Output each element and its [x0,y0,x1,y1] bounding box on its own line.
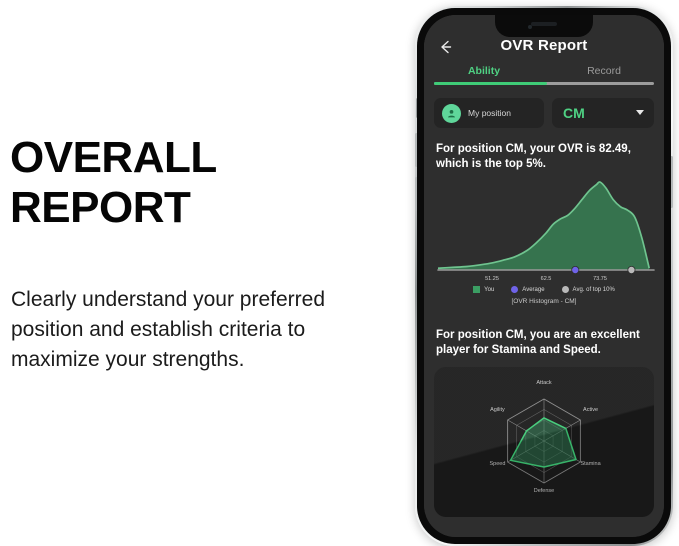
app-ovr-report: OVR Report Ability Record [424,15,664,537]
headline-line-2: REPORT [10,183,400,233]
ovr-statement-line-1: For position CM, your OVR is 82.49, [436,142,652,157]
marketing-body: Clearly understand your preferred positi… [11,285,396,375]
phone-frame: OVR Report Ability Record [415,6,673,546]
ovr-histogram-chart: 51.2562.573.75 YouAverageAvg. of top 10%… [432,176,656,302]
ovr-statement-line-2: which is the top 5%. [436,157,652,172]
radar-axis-label: Defense [534,488,555,494]
radar-axis-label: Speed [489,461,505,467]
tab-active-indicator [434,82,547,85]
legend-label: You [484,287,494,293]
page-title: OVERALL REPORT [10,133,400,233]
histogram-caption: [OVR Histogram - CM] [432,298,656,305]
navbar-title: OVR Report [424,37,664,54]
body-line-1: Clearly understand your preferred [11,285,396,315]
position-select[interactable]: CM [552,98,654,128]
strength-statement-line-1: For position CM, you are an excellent [436,328,652,343]
histogram-tick-label: 51.25 [485,276,499,282]
legend-item: Average [511,286,544,293]
phone-mockup: OVR Report Ability Record [411,2,679,542]
radar-axis-label: Active [583,407,598,413]
strength-statement: For position CM, you are an excellent pl… [436,328,652,358]
tab-ability[interactable]: Ability [424,65,544,77]
legend-swatch [562,286,569,293]
histogram-tick-label: 62.5 [541,276,552,282]
radar-axis-label: Stamina [580,461,600,467]
earpiece-speaker [531,22,557,26]
histogram-x-axis-ticks: 51.2562.573.75 [432,276,656,286]
body-line-3: maximize your strengths. [11,345,396,375]
headline-line-1: OVERALL [10,133,217,182]
my-position-label: My position [468,108,511,118]
radar-axis-label: Agility [490,407,505,413]
legend-label: Avg. of top 10% [573,287,615,293]
radar-axis-label: Attack [536,380,551,386]
tab-record[interactable]: Record [544,65,664,77]
legend-label: Average [522,287,544,293]
marketing-panel: OVERALL REPORT Clearly understand your p… [0,0,410,533]
tab-bar: Ability Record [424,65,664,89]
legend-item: Avg. of top 10% [562,286,615,293]
person-icon [442,104,461,123]
chevron-down-icon [636,110,644,115]
strength-statement-line-2: player for Stamina and Speed. [436,343,652,358]
promo-page: OVERALL REPORT Clearly understand your p… [0,0,679,533]
legend-swatch [511,286,518,293]
phone-notch [495,15,593,37]
position-controls: My position CM [434,98,654,132]
phone-bezel: OVR Report Ability Record [417,8,671,544]
body-line-2: position and establish criteria to [11,315,396,345]
legend-item: You [473,286,494,293]
my-position-button[interactable]: My position [434,98,544,128]
legend-swatch [473,286,480,293]
front-camera-icon [528,25,532,29]
histogram-legend: YouAverageAvg. of top 10% [432,286,656,293]
ability-radar-chart: AttackActiveStaminaDefenseSpeedAgility [434,367,654,517]
histogram-tick-label: 73.75 [593,276,607,282]
ovr-statement: For position CM, your OVR is 82.49, whic… [436,142,652,172]
histogram-plot [432,176,660,282]
position-select-value: CM [563,105,585,121]
phone-screen: OVR Report Ability Record [424,15,664,537]
